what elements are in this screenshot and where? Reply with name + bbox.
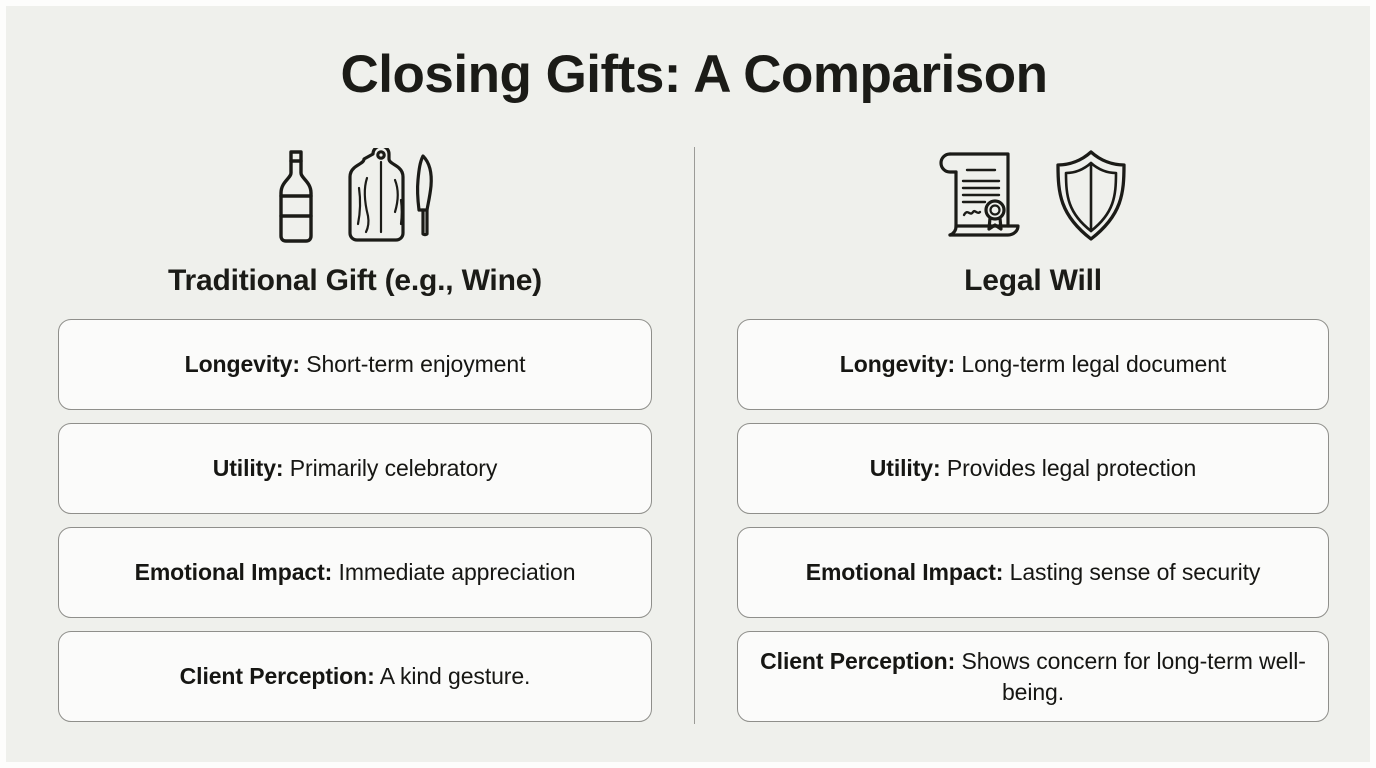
- column-heading-traditional: Traditional Gift (e.g., Wine): [58, 264, 652, 298]
- card-label: Emotional Impact:: [806, 559, 1004, 585]
- card-value: Short-term enjoyment: [306, 351, 525, 377]
- card-text: Utility: Provides legal protection: [870, 453, 1196, 484]
- card-label: Utility:: [213, 455, 284, 481]
- card-value: Shows concern for long-term well-being.: [961, 648, 1305, 705]
- card-text: Emotional Impact: Lasting sense of secur…: [806, 557, 1261, 588]
- comparison-card: Utility: Provides legal protection: [737, 423, 1329, 514]
- card-value: Long-term legal document: [961, 351, 1226, 377]
- card-text: Client Perception: A kind gesture.: [180, 661, 531, 692]
- card-text: Client Perception: Shows concern for lon…: [756, 646, 1310, 708]
- card-text: Emotional Impact: Immediate appreciation: [135, 557, 576, 588]
- column-legal-will: Legal Will Longevity: Long-term legal do…: [737, 144, 1329, 722]
- comparison-list-legal-will: Longevity: Long-term legal document Util…: [737, 319, 1329, 722]
- wine-bottle-icon: [273, 148, 319, 244]
- scroll-certificate-icon: [936, 148, 1028, 244]
- card-text: Utility: Primarily celebratory: [213, 453, 498, 484]
- card-label: Client Perception:: [760, 648, 955, 674]
- card-label: Longevity:: [840, 351, 955, 377]
- column-left-icon-row: [58, 144, 652, 248]
- card-label: Longevity:: [185, 351, 300, 377]
- comparison-card: Longevity: Long-term legal document: [737, 319, 1329, 410]
- card-value: Immediate appreciation: [339, 559, 576, 585]
- card-text: Longevity: Short-term enjoyment: [185, 349, 526, 380]
- column-heading-legal-will: Legal Will: [737, 264, 1329, 298]
- comparison-card: Longevity: Short-term enjoyment: [58, 319, 652, 410]
- column-divider: [694, 147, 695, 724]
- comparison-card: Client Perception: Shows concern for lon…: [737, 631, 1329, 722]
- shield-icon: [1052, 148, 1130, 244]
- card-value: Provides legal protection: [947, 455, 1196, 481]
- card-value: Lasting sense of security: [1010, 559, 1261, 585]
- comparison-list-traditional: Longevity: Short-term enjoyment Utility:…: [58, 319, 652, 722]
- comparison-card: Emotional Impact: Lasting sense of secur…: [737, 527, 1329, 618]
- comparison-card: Client Perception: A kind gesture.: [58, 631, 652, 722]
- cutting-board-knife-icon: [343, 148, 438, 244]
- card-label: Utility:: [870, 455, 941, 481]
- card-value: Primarily celebratory: [290, 455, 498, 481]
- card-text: Longevity: Long-term legal document: [840, 349, 1226, 380]
- infographic-page: Closing Gifts: A Comparison: [0, 0, 1376, 768]
- card-label: Client Perception:: [180, 663, 375, 689]
- card-label: Emotional Impact:: [135, 559, 333, 585]
- card-value: A kind gesture.: [380, 663, 531, 689]
- comparison-card: Utility: Primarily celebratory: [58, 423, 652, 514]
- comparison-card: Emotional Impact: Immediate appreciation: [58, 527, 652, 618]
- column-right-icon-row: [737, 144, 1329, 248]
- page-title: Closing Gifts: A Comparison: [6, 44, 1376, 105]
- column-traditional-gift: Traditional Gift (e.g., Wine) Longevity:…: [58, 144, 652, 722]
